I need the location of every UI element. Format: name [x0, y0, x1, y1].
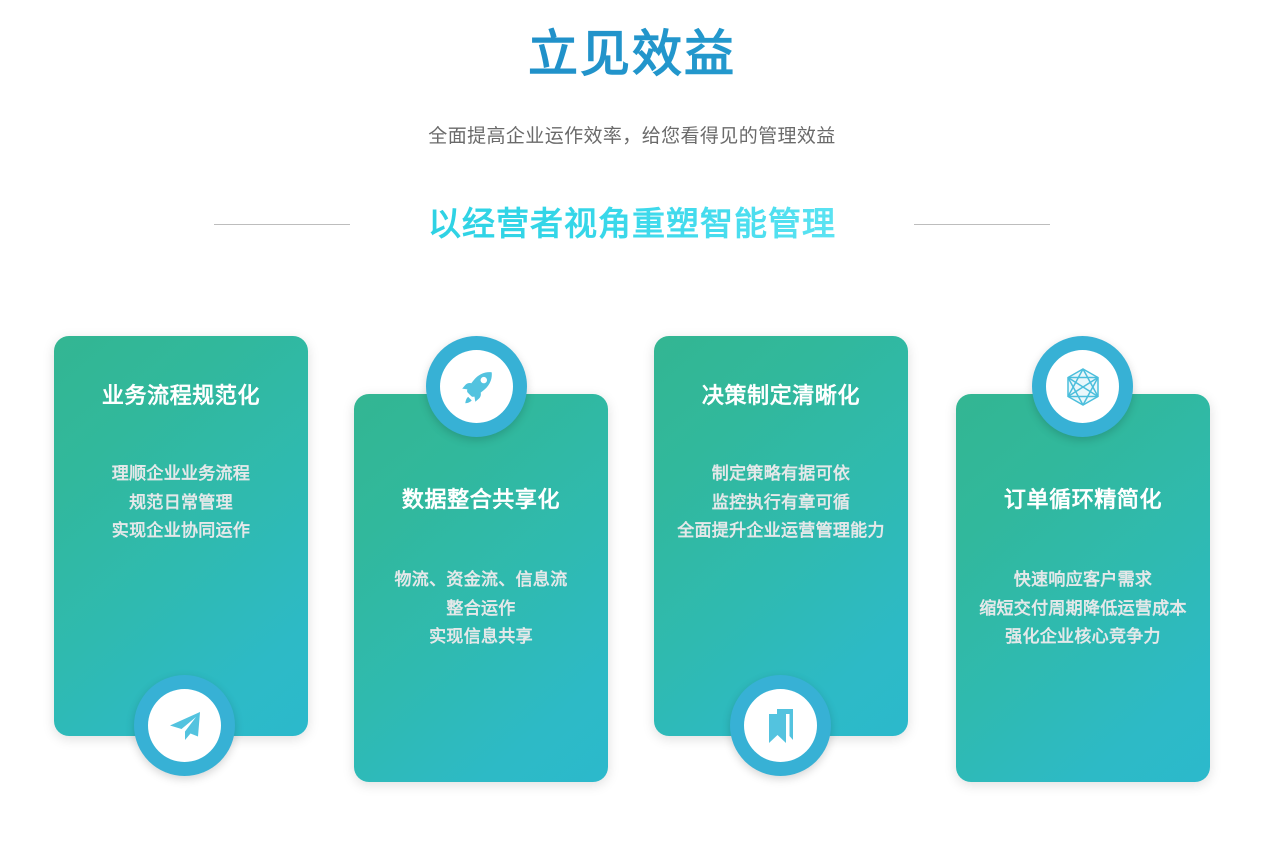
benefit-card-body: 物流、资金流、信息流 整合运作 实现信息共享	[364, 566, 598, 652]
icon-badge-inner	[148, 689, 221, 762]
benefit-card-line: 制定策略有据可依	[664, 460, 898, 489]
icon-badge-inner	[744, 689, 817, 762]
benefit-card-line: 实现企业协同运作	[64, 517, 298, 546]
bookmark-icon	[763, 707, 799, 745]
icon-badge-inner	[1046, 350, 1119, 423]
benefit-card-4[interactable]: 订单循环精简化 快速响应客户需求 缩短交付周期降低运营成本 强化企业核心竞争力	[956, 394, 1210, 782]
benefit-card-2[interactable]: 数据整合共享化 物流、资金流、信息流 整合运作 实现信息共享	[354, 394, 608, 782]
benefit-card-line: 实现信息共享	[364, 623, 598, 652]
benefit-card-line: 全面提升企业运营管理能力	[664, 517, 898, 546]
icon-badge-inner	[440, 350, 513, 423]
benefit-card-line: 缩短交付周期降低运营成本	[966, 595, 1200, 624]
rocket-icon	[458, 368, 496, 406]
card-grid: 业务流程规范化 理顺企业业务流程 规范日常管理 实现企业协同运作 数据整合共享化	[0, 0, 1264, 859]
paper-plane-icon-badge[interactable]	[134, 675, 235, 776]
benefit-card-title: 数据整合共享化	[354, 486, 608, 515]
network-hexagon-icon-badge[interactable]	[1032, 336, 1133, 437]
bookmark-icon-badge[interactable]	[730, 675, 831, 776]
benefits-page: 立见效益 全面提高企业运作效率，给您看得见的管理效益 以经营者视角重塑智能管理 …	[0, 0, 1264, 859]
benefit-card-line: 规范日常管理	[64, 489, 298, 518]
benefit-card-1[interactable]: 业务流程规范化 理顺企业业务流程 规范日常管理 实现企业协同运作	[54, 336, 308, 736]
benefit-card-line: 整合运作	[364, 595, 598, 624]
benefit-card-line: 理顺企业业务流程	[64, 460, 298, 489]
benefit-card-body: 制定策略有据可依 监控执行有章可循 全面提升企业运营管理能力	[664, 460, 898, 546]
benefit-card-body: 理顺企业业务流程 规范日常管理 实现企业协同运作	[64, 460, 298, 546]
benefit-card-title: 订单循环精简化	[956, 486, 1210, 515]
benefit-card-line: 物流、资金流、信息流	[364, 566, 598, 595]
benefit-card-body: 快速响应客户需求 缩短交付周期降低运营成本 强化企业核心竞争力	[966, 566, 1200, 652]
network-hexagon-icon	[1062, 366, 1104, 408]
benefit-card-line: 强化企业核心竞争力	[966, 623, 1200, 652]
benefit-card-title: 业务流程规范化	[54, 382, 308, 411]
benefit-card-3[interactable]: 决策制定清晰化 制定策略有据可依 监控执行有章可循 全面提升企业运营管理能力	[654, 336, 908, 736]
benefit-card-title: 决策制定清晰化	[654, 382, 908, 411]
benefit-card-line: 监控执行有章可循	[664, 489, 898, 518]
benefit-card-line: 快速响应客户需求	[966, 566, 1200, 595]
paper-plane-icon	[165, 706, 205, 746]
rocket-icon-badge[interactable]	[426, 336, 527, 437]
